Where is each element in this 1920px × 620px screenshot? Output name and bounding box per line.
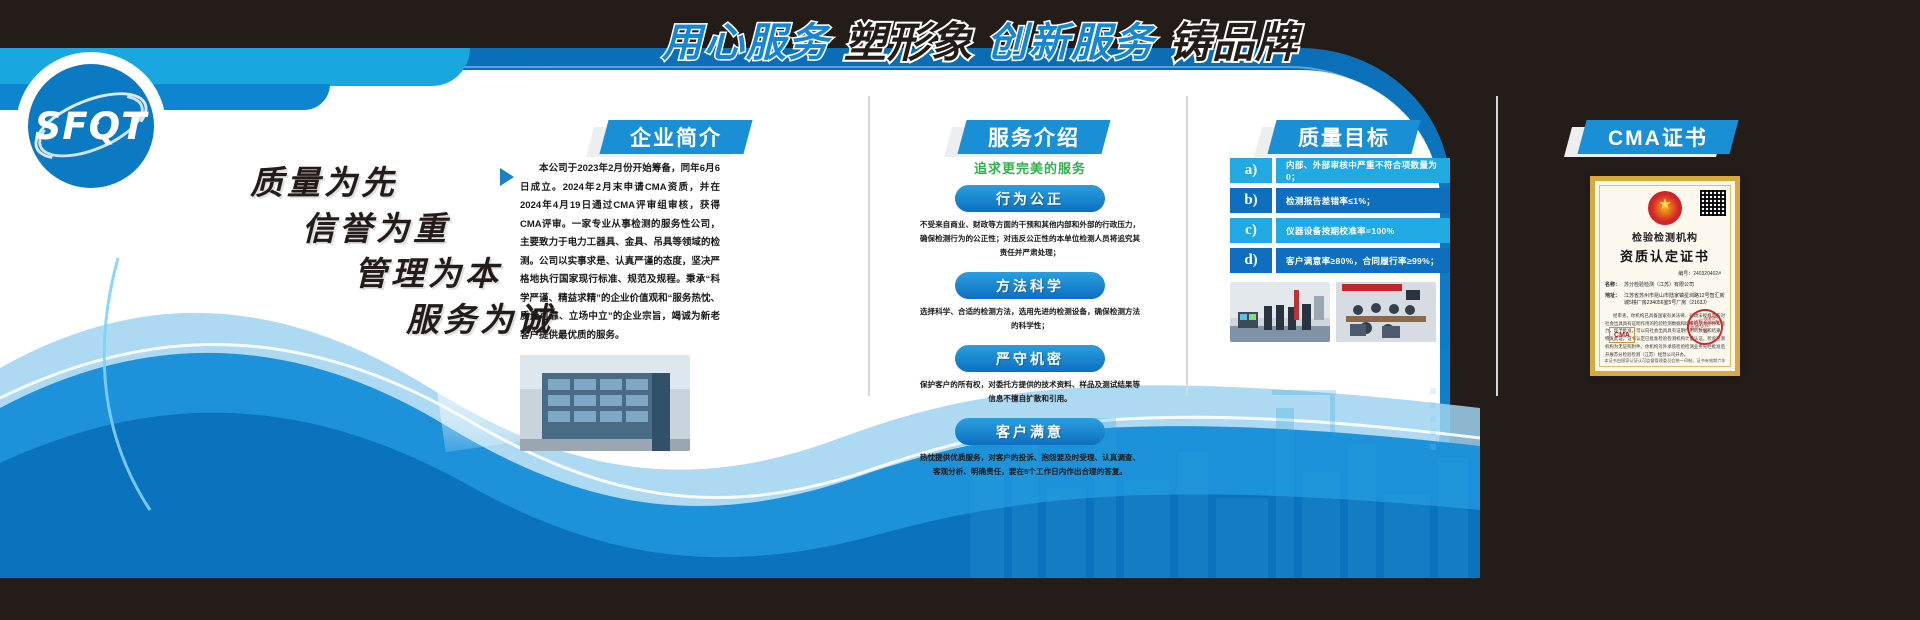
goal-value-a: 内部、外部审核中严重不符合项数量为0； (1276, 158, 1450, 183)
goal-key-d: d) (1230, 248, 1272, 273)
section-title-company: 企业简介 (630, 122, 722, 152)
goal-row: c) 仪器设备按期校准率=100% (1230, 218, 1450, 243)
company-intro-body: 本公司于2023年2月份开始筹备，同年6月6日成立。2024年2月末申请CMA资… (520, 160, 720, 451)
service-subtitle: 追求更完美的服务 (915, 158, 1145, 177)
service-body: 追求更完美的服务 行为公正 不受来自商业、财政等方面的干预和其他内部和外部的行政… (915, 158, 1145, 491)
section-title-service: 服务介绍 (988, 122, 1080, 152)
certificate-footer: 本证书由国家认证认可监督管理委员会统一印制，证书有效期六年 (1595, 358, 1735, 364)
banner-service: 服务介绍 (962, 120, 1106, 154)
company-intro-paragraph: 本公司于2023年2月份开始筹备，同年6月6日成立。2024年2月末申请CMA资… (520, 160, 720, 345)
service-pill-2[interactable]: 方法科学 (955, 272, 1105, 299)
service-desc-1: 不受来自商业、财政等方面的干预和其他内部和外部的行政压力，确保检测行为的公正性；… (917, 218, 1143, 260)
banner-fill: CMA证书 (1577, 120, 1738, 154)
qr-code-icon (1700, 190, 1726, 216)
column-divider-3 (1496, 96, 1498, 396)
company-building-photo (520, 355, 690, 451)
headline-brush-2: 铸品牌 (1169, 9, 1298, 70)
goal-key-a: a) (1230, 158, 1272, 183)
goal-row: b) 检测报告差错率≤1%； (1230, 188, 1450, 213)
banner-cma: CMA证书 (1582, 120, 1734, 154)
service-pill-3[interactable]: 严守机密 (955, 345, 1105, 372)
service-pill-1[interactable]: 行为公正 (955, 185, 1105, 212)
company-logo: SFQT ⚡ (16, 52, 166, 200)
column-divider-2 (1186, 96, 1188, 396)
section-company-intro: 企业简介 (604, 120, 748, 154)
cma-body: 检验检测机构 资质认定证书 编号：240320402# 名称： 苏分检验检测（江… (1540, 158, 1790, 376)
triangle-arrow-icon (500, 168, 514, 186)
column-divider-1 (868, 96, 870, 396)
wall-culture-poster: SFQT ⚡ 用心服务 塑形象 创新服务 铸品牌 质量为先 信誉为重 管理为本 … (0, 0, 1920, 620)
section-title-cma: CMA证书 (1608, 122, 1708, 152)
headline-part-1: 用心服务 (662, 10, 830, 68)
goal-value-d: 客户满意率≥80%，合同履行率≥99%； (1276, 248, 1450, 273)
service-desc-4: 热忱提供优质服务，对客户的投诉、抱怨要及时受理、认真调查、客观分析、明确责任，要… (917, 451, 1143, 479)
slogan-line-2: 信誉为重 (302, 206, 554, 252)
goal-value-c: 仪器设备按期校准率=100% (1276, 218, 1450, 243)
goal-key-c: c) (1230, 218, 1272, 243)
section-service: 服务介绍 (962, 120, 1106, 154)
banner-company-intro: 企业简介 (604, 120, 748, 154)
service-pill-4[interactable]: 客户满意 (955, 418, 1105, 445)
goal-row: a) 内部、外部审核中严重不符合项数量为0； (1230, 158, 1450, 183)
service-desc-2: 选择科学、合适的检测方法，选用先进的检测设备，确保检测方法的科学性； (917, 305, 1143, 333)
goal-value-b: 检测报告差错率≤1%； (1276, 188, 1450, 213)
logo-circle: SFQT ⚡ (28, 64, 154, 188)
section-cma: CMA证书 (1582, 120, 1734, 154)
quality-goal-list: a) 内部、外部审核中严重不符合项数量为0； b) 检测报告差错率≤1%； c)… (1230, 158, 1450, 342)
banner-fill: 服务介绍 (957, 120, 1110, 154)
slogan-block: 质量为先 信誉为重 管理为本 服务为诚 (250, 160, 554, 342)
cma-certificate: 检验检测机构 资质认定证书 编号：240320402# 名称： 苏分检验检测（江… (1590, 176, 1740, 376)
banner-fill: 企业简介 (599, 120, 752, 154)
quality-photo-row (1230, 282, 1450, 342)
headline-brush-1: 塑形象 (844, 9, 973, 70)
national-emblem-icon (1648, 191, 1682, 225)
poster-headline: 用心服务 塑形象 创新服务 铸品牌 (630, 8, 1330, 70)
goal-key-b: b) (1230, 188, 1272, 213)
goal-row: d) 客户满意率≥80%，合同履行率≥99%； (1230, 248, 1450, 273)
meeting-room-photo (1336, 282, 1436, 342)
headline-part-2: 创新服务 (987, 10, 1155, 68)
banner-fill: 质量目标 (1267, 120, 1420, 154)
section-title-quality: 质量目标 (1298, 122, 1390, 152)
section-quality: 质量目标 (1272, 120, 1416, 154)
lightning-bolt-icon: ⚡ (90, 114, 102, 134)
banner-quality: 质量目标 (1272, 120, 1416, 154)
service-desc-3: 保护客户的所有权，对委托方提供的技术资料、样品及测试结果等信息不擅自扩散和引用。 (917, 378, 1143, 406)
cma-mark-icon: CMA (1609, 327, 1635, 343)
lab-testing-photo (1230, 282, 1330, 342)
